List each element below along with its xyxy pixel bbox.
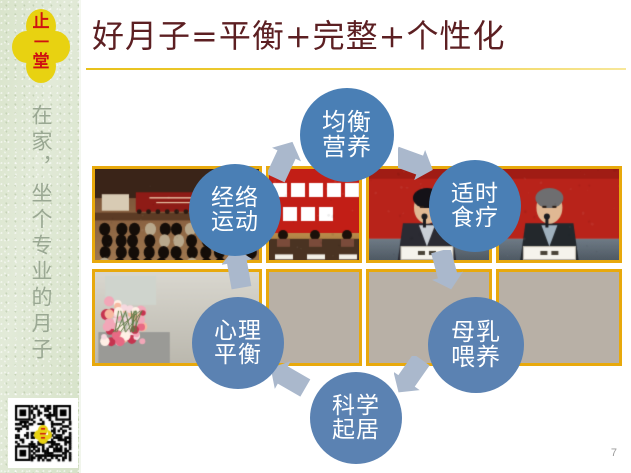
brand-logo-icon: 止 一 堂 <box>12 9 70 83</box>
logo-char-3: 堂 <box>26 54 56 71</box>
page-title: 好月子=平衡+完整+个性化 <box>92 13 622 59</box>
circle-nutrition-line2: 营养 <box>322 135 372 160</box>
logo-char-2: 一 <box>26 35 56 50</box>
circle-psychology-line1: 心理 <box>214 319 262 343</box>
arrow-diet-to-breastfeed <box>430 250 476 296</box>
circle-diet-line1: 适时 <box>451 182 499 206</box>
circle-diet-line2: 食疗 <box>451 206 499 230</box>
title-divider <box>86 68 626 70</box>
circle-routine-line1: 科学 <box>332 394 380 418</box>
circle-breastfeed[interactable]: 母乳 喂养 <box>428 297 524 393</box>
circle-meridian[interactable]: 经络 运动 <box>189 164 281 256</box>
circle-nutrition-line1: 均衡 <box>322 110 372 135</box>
circle-nutrition[interactable]: 均衡 营养 <box>300 88 394 182</box>
page-number: 7 <box>611 447 617 459</box>
circle-psychology[interactable]: 心理 平衡 <box>192 297 284 389</box>
left-sidebar: 止 一 堂 在家，坐个专业的月子 <box>0 0 81 473</box>
circle-meridian-line1: 经络 <box>211 186 259 210</box>
sidebar-slogan: 在家，坐个专业的月子 <box>26 104 56 354</box>
slide-root: 止 一 堂 在家，坐个专业的月子 好月子=平衡+完整+个性化 <box>0 0 631 473</box>
circle-psychology-line2: 平衡 <box>214 343 262 367</box>
circle-routine-line2: 起居 <box>332 418 380 442</box>
arrow-routine-to-psychology <box>272 358 318 404</box>
sidebar-edge <box>79 0 81 473</box>
circle-meridian-line2: 运动 <box>211 210 259 234</box>
logo-char-1: 止 <box>26 14 56 31</box>
circle-routine[interactable]: 科学 起居 <box>310 372 402 464</box>
qr-code-icon[interactable] <box>8 398 78 468</box>
circle-diet[interactable]: 适时 食疗 <box>429 160 521 252</box>
circle-breastfeed-line2: 喂养 <box>451 345 501 370</box>
circle-breastfeed-line1: 母乳 <box>451 320 501 345</box>
